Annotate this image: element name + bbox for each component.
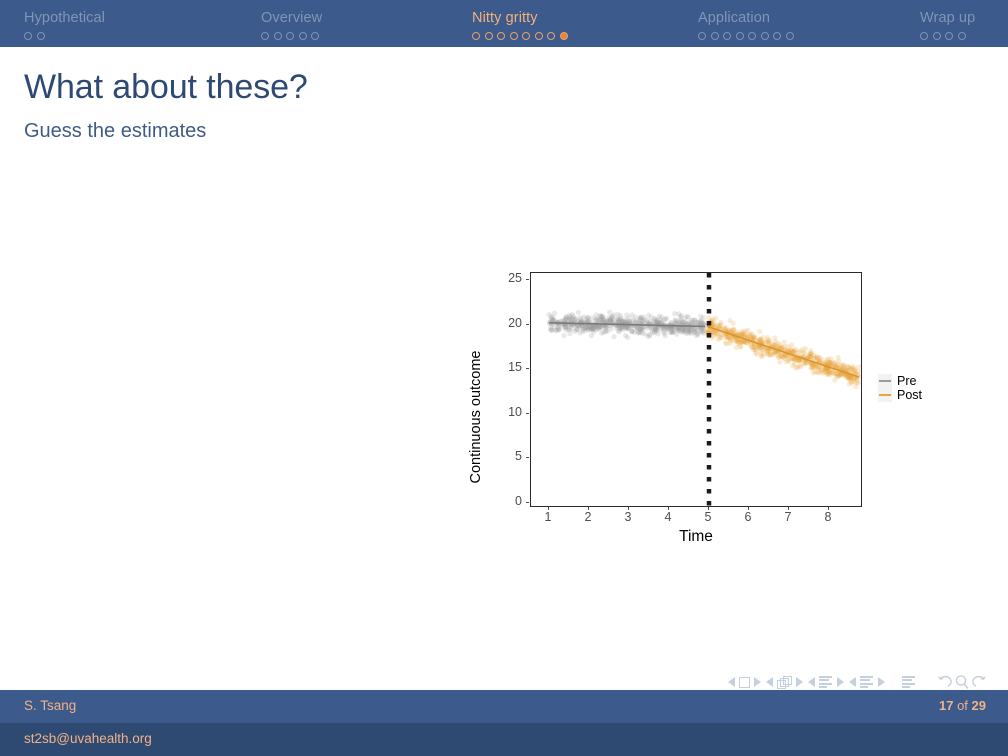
scatter-point xyxy=(678,314,683,319)
nav-section-label: Application xyxy=(698,10,794,26)
nav-dot[interactable] xyxy=(485,32,493,40)
nav-section-dots xyxy=(698,32,794,40)
nav-dot[interactable] xyxy=(311,32,319,40)
footer-page-total: 29 xyxy=(972,698,986,713)
footer-author: S. Tsang xyxy=(24,698,76,713)
subsection-nav-group[interactable] xyxy=(808,676,844,689)
nav-dot[interactable] xyxy=(761,32,769,40)
scatter-point xyxy=(727,318,732,323)
scatter-point xyxy=(845,364,850,369)
section-icon[interactable] xyxy=(860,676,874,689)
section-navigation-bar: Hypothetical Overview Nitty gritty Appli… xyxy=(0,0,1008,47)
scatter-point xyxy=(796,350,801,355)
scatter-point xyxy=(629,329,634,334)
nav-dot[interactable] xyxy=(958,32,966,40)
slide-icon[interactable] xyxy=(739,677,750,688)
nav-section-label: Nitty gritty xyxy=(472,10,568,26)
scatter-point xyxy=(757,329,762,334)
nav-section-label: Wrap up xyxy=(920,10,975,26)
slide-nav-group[interactable] xyxy=(728,677,761,688)
search-icon[interactable] xyxy=(953,674,971,690)
scatter-point xyxy=(689,318,694,323)
y-tick-label: 15 xyxy=(488,360,522,374)
nav-dot[interactable] xyxy=(723,32,731,40)
footer-email: st2sb@uvahealth.org xyxy=(24,731,152,746)
scatter-point xyxy=(672,311,677,316)
forward-icon[interactable] xyxy=(971,674,989,690)
scatter-point xyxy=(777,360,782,365)
chart-x-axis-label: Time xyxy=(530,528,862,546)
scatter-point xyxy=(714,332,719,337)
nav-section-wrap-up[interactable]: Wrap up xyxy=(920,10,975,40)
x-tick-mark xyxy=(628,507,629,510)
scatter-point xyxy=(852,367,857,372)
footer-page-indicator: 17 of 29 xyxy=(939,698,986,713)
scatter-point xyxy=(561,333,566,338)
nav-dot[interactable] xyxy=(535,32,543,40)
nav-dot[interactable] xyxy=(560,32,568,40)
scatter-point xyxy=(808,348,813,353)
chart-plot-svg xyxy=(531,273,862,507)
scatter-point xyxy=(795,365,800,370)
nav-dot[interactable] xyxy=(261,32,269,40)
scatter-point xyxy=(625,335,630,340)
chart-y-axis-label: Continuous outcome xyxy=(468,302,484,532)
scatter-point xyxy=(836,359,841,364)
scatter-point xyxy=(713,316,718,321)
scatter-point xyxy=(776,355,781,360)
x-tick-label: 3 xyxy=(618,510,638,524)
scatter-point xyxy=(843,374,848,379)
scatter-point xyxy=(816,365,821,370)
scatter-point xyxy=(854,380,859,385)
scatter-point xyxy=(784,359,789,364)
nav-dot[interactable] xyxy=(510,32,518,40)
prev-frame-icon[interactable] xyxy=(766,677,773,687)
nav-dot[interactable] xyxy=(698,32,706,40)
nav-dot[interactable] xyxy=(736,32,744,40)
nav-dot[interactable] xyxy=(286,32,294,40)
scatter-point xyxy=(808,365,813,370)
chart-legend: Pre Post xyxy=(878,374,922,402)
scatter-point xyxy=(695,332,700,337)
slide-root: Hypothetical Overview Nitty gritty Appli… xyxy=(0,0,1008,756)
scatter-point xyxy=(678,324,683,329)
scatter-point xyxy=(728,341,733,346)
chart-plot-panel xyxy=(530,272,862,507)
scatter-point xyxy=(684,314,689,319)
scatter-point xyxy=(723,340,728,345)
nav-dot[interactable] xyxy=(497,32,505,40)
scatter-point xyxy=(666,326,671,331)
scatter-point xyxy=(775,341,780,346)
nav-section-dots xyxy=(920,32,975,40)
scatter-point xyxy=(586,328,591,333)
scatter-point xyxy=(593,317,598,322)
scatter-point xyxy=(758,351,763,356)
scatter-point xyxy=(621,318,626,323)
legend-swatch-pre xyxy=(878,374,892,388)
x-tick-label: 5 xyxy=(698,510,718,524)
footer-bottom-bar: st2sb@uvahealth.org xyxy=(0,723,1008,756)
scatter-point xyxy=(753,347,758,352)
page-subtitle: Guess the estimates xyxy=(24,120,206,143)
scatter-point xyxy=(593,312,598,317)
prev-subsection-icon[interactable] xyxy=(808,677,815,687)
prev-slide-icon[interactable] xyxy=(728,677,735,687)
scatter-point xyxy=(788,347,793,352)
scatter-point xyxy=(693,327,698,332)
scatter-point xyxy=(627,319,632,324)
scatter-point xyxy=(557,327,562,332)
scatter-point xyxy=(781,346,786,351)
scatter-point xyxy=(790,356,795,361)
nav-dot[interactable] xyxy=(299,32,307,40)
nav-section-nitty-gritty[interactable]: Nitty gritty xyxy=(472,10,568,40)
scatter-point xyxy=(765,352,770,357)
scatter-point xyxy=(638,315,643,320)
nav-dot[interactable] xyxy=(920,32,928,40)
nav-dot[interactable] xyxy=(24,32,32,40)
nav-section-dots xyxy=(261,32,322,40)
x-tick-label: 8 xyxy=(818,510,838,524)
trend-line-post xyxy=(707,326,859,377)
nav-dot[interactable] xyxy=(472,32,480,40)
toc-nav-group[interactable] xyxy=(902,676,916,689)
scatter-point xyxy=(633,314,638,319)
nav-section-hypothetical[interactable]: Hypothetical xyxy=(24,10,105,40)
y-tick-label: 25 xyxy=(488,271,522,285)
beamer-navigation-symbols[interactable] xyxy=(728,674,994,690)
y-tick-mark xyxy=(526,279,529,280)
next-frame-icon[interactable] xyxy=(796,677,803,687)
scatter-point xyxy=(829,360,834,365)
y-tick-mark xyxy=(526,324,529,325)
nav-dot[interactable] xyxy=(711,32,719,40)
next-section-icon[interactable] xyxy=(878,677,885,687)
legend-item-pre: Pre xyxy=(878,374,922,388)
scatter-point xyxy=(771,342,776,347)
x-tick-mark xyxy=(748,507,749,510)
scatter-point xyxy=(683,320,688,325)
nav-dot[interactable] xyxy=(274,32,282,40)
y-tick-mark xyxy=(526,502,529,503)
scatter-point xyxy=(574,327,579,332)
x-tick-mark xyxy=(548,507,549,510)
nav-section-dots xyxy=(472,32,568,40)
section-nav-group[interactable] xyxy=(849,676,885,689)
nav-dot[interactable] xyxy=(773,32,781,40)
frame-nav-group[interactable] xyxy=(766,676,803,689)
toc-icon[interactable] xyxy=(902,676,916,689)
nav-dot[interactable] xyxy=(522,32,530,40)
nav-dot[interactable] xyxy=(37,32,45,40)
scatter-point xyxy=(611,334,616,339)
legend-label-post: Post xyxy=(897,388,922,402)
nav-section-label: Hypothetical xyxy=(24,10,105,26)
x-tick-mark xyxy=(588,507,589,510)
legend-label-pre: Pre xyxy=(897,374,916,388)
scatter-point xyxy=(657,313,662,318)
nav-section-label: Overview xyxy=(261,10,322,26)
x-tick-mark xyxy=(788,507,789,510)
scatter-point xyxy=(646,313,651,318)
scatter-point xyxy=(651,330,656,335)
footer-page-current: 17 xyxy=(939,698,953,713)
next-slide-icon[interactable] xyxy=(754,677,761,687)
scatter-point xyxy=(801,362,806,367)
x-tick-label: 2 xyxy=(578,510,598,524)
scatter-point xyxy=(576,310,581,315)
x-tick-mark xyxy=(668,507,669,510)
legend-swatch-post xyxy=(878,388,892,402)
scatter-point xyxy=(589,333,594,338)
scatter-point xyxy=(664,316,669,321)
footer-top-bar: S. Tsang 17 of 29 xyxy=(0,690,1008,723)
legend-item-post: Post xyxy=(878,388,922,402)
scatter-point xyxy=(566,313,571,318)
back-icon[interactable] xyxy=(935,674,953,690)
prev-section-icon[interactable] xyxy=(849,677,856,687)
chart-figure: Continuous outcome 0510152025 12345678 T… xyxy=(470,262,940,552)
scatter-point xyxy=(856,364,861,369)
y-tick-label: 10 xyxy=(488,405,522,419)
x-tick-mark xyxy=(708,507,709,510)
scatter-point xyxy=(685,330,690,335)
subsection-icon[interactable] xyxy=(819,676,833,689)
x-tick-label: 6 xyxy=(738,510,758,524)
scatter-point xyxy=(801,350,806,355)
scatter-point xyxy=(598,325,603,330)
nav-dot[interactable] xyxy=(945,32,953,40)
nav-dot[interactable] xyxy=(748,32,756,40)
scatter-point xyxy=(782,339,787,344)
y-tick-label: 5 xyxy=(488,449,522,463)
x-tick-label: 4 xyxy=(658,510,678,524)
footer-page-of: of xyxy=(953,698,971,713)
nav-dot[interactable] xyxy=(933,32,941,40)
scatter-point xyxy=(808,354,813,359)
nav-section-overview[interactable]: Overview xyxy=(261,10,322,40)
page-title: What about these? xyxy=(24,68,308,107)
y-tick-mark xyxy=(526,368,529,369)
scatter-point xyxy=(608,318,613,323)
x-tick-label: 7 xyxy=(778,510,798,524)
scatter-point xyxy=(699,318,704,323)
x-tick-label: 1 xyxy=(538,510,558,524)
y-tick-mark xyxy=(526,413,529,414)
scatter-point xyxy=(765,335,770,340)
scatter-point xyxy=(642,331,647,336)
y-tick-mark xyxy=(526,457,529,458)
scatter-point xyxy=(838,373,843,378)
y-tick-label: 0 xyxy=(488,494,522,508)
history-nav-group[interactable] xyxy=(935,674,989,690)
scatter-point xyxy=(624,312,629,317)
nav-section-application[interactable]: Application xyxy=(698,10,794,40)
scatter-point xyxy=(672,317,677,322)
nav-dot[interactable] xyxy=(786,32,794,40)
scatter-point xyxy=(568,322,573,327)
nav-section-dots xyxy=(24,32,105,40)
next-subsection-icon[interactable] xyxy=(837,677,844,687)
scatter-point xyxy=(618,313,623,318)
scatter-point xyxy=(662,331,667,336)
nav-dot[interactable] xyxy=(547,32,555,40)
scatter-point xyxy=(601,315,606,320)
y-tick-label: 20 xyxy=(488,316,522,330)
frames-icon[interactable] xyxy=(777,676,792,689)
scatter-point xyxy=(603,329,608,334)
x-tick-mark xyxy=(828,507,829,510)
